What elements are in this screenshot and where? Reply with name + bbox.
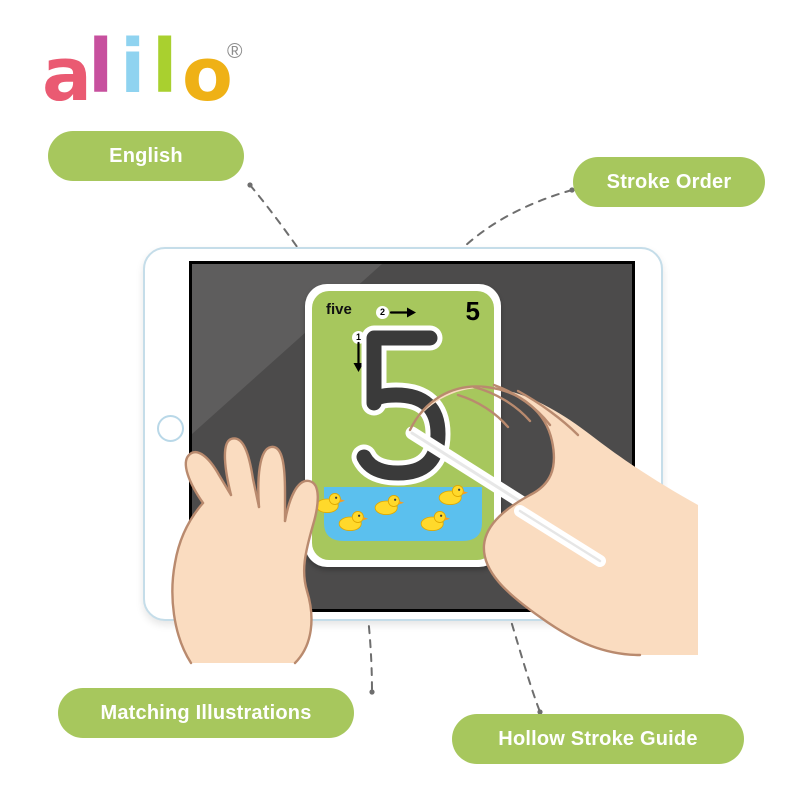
label-stroke-order[interactable]: Stroke Order [573, 157, 765, 207]
tablet-screen[interactable]: five 5 2 1 [189, 261, 635, 612]
stroke-arrow-2-head [407, 308, 416, 318]
number-card-face: five 5 2 1 [312, 291, 494, 560]
logo-letter-i: i [120, 30, 143, 104]
logo-letter-l1: l [88, 30, 111, 104]
logo-letter-o: o [182, 38, 231, 112]
duck-pond-illustration [316, 485, 482, 541]
label-english[interactable]: English [48, 131, 244, 181]
poster-canvas: a l i l o ® [0, 0, 800, 800]
logo-letter-l2: l [152, 30, 175, 104]
hollow-stroke-guide-5 [364, 338, 438, 473]
logo-letter-a: a [42, 38, 90, 112]
brand-logo: a l i l o ® [42, 38, 272, 110]
registered-trademark-icon: ® [227, 40, 242, 64]
tablet-device: five 5 2 1 [143, 247, 663, 621]
number-card[interactable]: five 5 2 1 [305, 284, 501, 567]
home-button[interactable] [157, 415, 184, 442]
connector-dot-english [247, 182, 252, 187]
label-matching-illustrations[interactable]: Matching Illustrations [58, 688, 354, 738]
connector-dot-matching [369, 689, 374, 694]
label-hollow-stroke-guide[interactable]: Hollow Stroke Guide [452, 714, 744, 764]
card-graphics [312, 291, 494, 560]
